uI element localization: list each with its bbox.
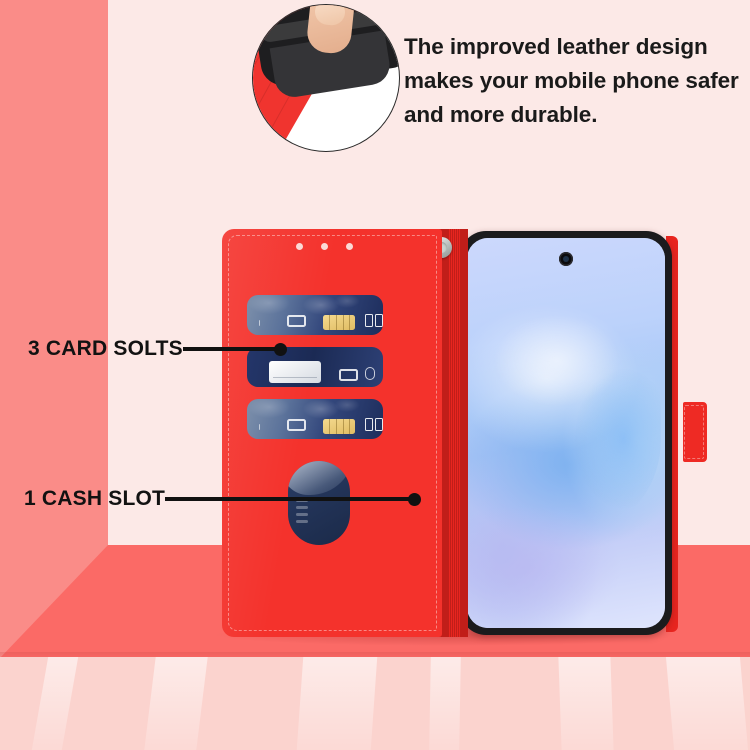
floor-light-ray: [429, 657, 461, 750]
leather-durability-closeup-icon: [252, 4, 400, 152]
card-3-logo-icon: [365, 418, 383, 431]
card-3-artwork: [247, 399, 383, 439]
card-1-logo-icon: [365, 314, 383, 327]
floor-light-ray: [297, 657, 378, 750]
card-3-rect-icon: [287, 419, 306, 431]
card-2-rect-icon: [339, 369, 358, 381]
callout-cash-slot-dot: [408, 493, 421, 506]
callout-card-slots-label: 3 CARD SOLTS: [28, 337, 183, 361]
front-camera-icon: [559, 252, 573, 266]
card-1-chip-icon: [323, 315, 355, 330]
background-band-left: [0, 0, 108, 546]
floor-light-ray: [558, 657, 613, 750]
feature-description: The improved leather design makes your m…: [404, 30, 744, 132]
callout-cash-slot: 1 CASH SLOT: [24, 487, 421, 511]
phone-screen[interactable]: [467, 238, 665, 628]
spine-rib: [466, 229, 468, 637]
wallet-spine: [438, 229, 468, 637]
cash-slot-bar-4: [296, 520, 308, 523]
card-slot-1: [247, 295, 383, 335]
card-2-label: [269, 361, 321, 383]
callout-cash-slot-label: 1 CASH SLOT: [24, 487, 165, 511]
card-3-chip-icon: [323, 419, 355, 434]
flap-dot-2: [321, 243, 328, 250]
card-1-rect-icon: [287, 315, 306, 327]
magnetic-closure-tab: [683, 402, 707, 462]
flap-dot-3: [346, 243, 353, 250]
card-1-artwork: [247, 295, 383, 335]
infographic-canvas: The improved leather design makes your m…: [0, 0, 750, 750]
card-2-label-line: [273, 377, 317, 378]
callout-cash-slot-line: [165, 497, 411, 501]
floor-light-ray: [666, 657, 748, 750]
wallpaper-lower-glow: [467, 508, 665, 628]
callout-card-slots-dot: [274, 343, 287, 356]
flap-dot-1: [296, 243, 303, 250]
callout-card-slots-line: [183, 347, 277, 351]
cash-slot-bar-3: [296, 513, 308, 516]
card-slot-3: [247, 399, 383, 439]
phone-device: [460, 231, 672, 635]
card-2-logo-icon: [365, 367, 375, 380]
callout-card-slots: 3 CARD SOLTS: [28, 337, 287, 361]
card-1-mark: [259, 320, 266, 326]
card-3-mark: [259, 424, 266, 430]
